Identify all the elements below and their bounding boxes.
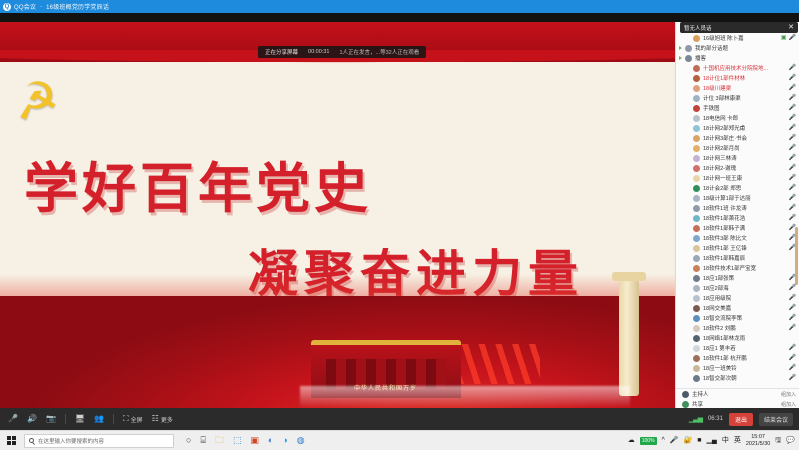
participant-name: 18软件技术1部严宝宽: [703, 264, 793, 272]
participant-status-icons: 🎤: [789, 365, 796, 371]
share-status-label: 正在分享屏幕: [265, 48, 298, 56]
windows-logo-icon: [7, 436, 16, 445]
browser-icon[interactable]: ◐: [268, 436, 273, 445]
participant-status-icons: 🎤: [789, 75, 796, 81]
avatar: [693, 375, 700, 382]
fullscreen-button[interactable]: ⛶ 全屏: [123, 415, 143, 424]
participant-status-icons: 🎤: [789, 115, 796, 121]
control-divider-2: [113, 414, 114, 424]
control-bar-right-group: ▁▃▅ 06:31 退出 结束会议: [689, 413, 799, 426]
clock-date: 2021/5/30: [746, 441, 770, 447]
participant-status-icons: 🎤: [789, 305, 796, 311]
search-placeholder: 在这里输入你要搜索的内容: [38, 437, 104, 445]
avatar: [693, 175, 700, 182]
participant-name: 18软件1部韩子满: [703, 224, 786, 232]
participant-row[interactable]: 18软件技术1部严宝宽: [676, 263, 799, 273]
participant-name: 计位 3部林康渠: [703, 94, 786, 102]
participant-row[interactable]: 18智交部次朝🎤: [676, 373, 799, 383]
camera-button[interactable]: 📷: [46, 415, 56, 423]
participant-status-icons: 🎤: [789, 215, 796, 221]
close-icon[interactable]: ✕: [788, 24, 794, 31]
microphone-muted-icon[interactable]: 🎤: [789, 155, 796, 161]
avatar: [693, 115, 700, 122]
network-tray-icon[interactable]: ▁▄: [707, 437, 717, 444]
footer-group-name: 共享: [692, 400, 778, 408]
control-bar-left-group: 🎤 🔊 📷 🖥 👥 ⛶ 全屏 ☷ 更多: [0, 414, 173, 424]
avatar: [693, 365, 700, 372]
avatar: [693, 285, 700, 292]
microphone-muted-icon[interactable]: 🎤: [789, 375, 796, 381]
participant-row[interactable]: 18软件1部韩子满🎤: [676, 223, 799, 233]
participant-status-icons: 🎤: [789, 175, 796, 181]
fountain-decoration: [300, 386, 630, 408]
avatar: [693, 75, 700, 82]
slide-headline-primary: 学好百年党史: [24, 144, 372, 223]
participant-name: 18计网2部月尚: [703, 144, 786, 152]
participant-status-icons: 🎤: [789, 185, 796, 191]
avatar: [693, 255, 700, 262]
participants-panel: 暂无人员话 ✕ 16级旭班 陈卜嘉▣🎤我的部分话题播客十国机应用技术分院院地..…: [675, 22, 799, 408]
avatar: [693, 295, 700, 302]
participant-status-icons: 🎤: [789, 95, 796, 101]
participant-row[interactable]: 18应用级院🎤: [676, 293, 799, 303]
system-tray: ☁ 100% ^ 🎤 🔐 ■ ▁▄ 中 英 15:07 2021/5/30 🖫 …: [628, 434, 799, 448]
participant-row[interactable]: 18智交流院李策🎤: [676, 313, 799, 323]
camera-on-icon[interactable]: ▣: [781, 35, 787, 41]
panel-header-tooltip: 暂无人员话 ✕: [680, 22, 798, 33]
participant-row[interactable]: 18应一班美铃🎤: [676, 363, 799, 373]
avatar: [693, 145, 700, 152]
participant-name: 18计网三林涛: [703, 154, 786, 162]
taskbar-clock[interactable]: 15:07 2021/5/30: [746, 434, 770, 448]
speaker-button[interactable]: 🔊: [27, 415, 37, 423]
speaker-icon: 🔊: [27, 415, 37, 423]
share-screen-button[interactable]: 🖥: [75, 415, 85, 423]
leave-meeting-button[interactable]: 退出: [729, 413, 753, 426]
participant-status-icons: 🎤: [789, 285, 796, 291]
microphone-muted-icon[interactable]: 🎤: [789, 325, 796, 331]
participant-row[interactable]: 十国机应用技术分院院地...🎤: [676, 63, 799, 73]
microphone-muted-icon[interactable]: 🎤: [789, 175, 796, 181]
participant-row[interactable]: 18计网2部月尚🎤: [676, 143, 799, 153]
taskbar-search-input[interactable]: 在这里输入你要搜索的内容: [24, 434, 174, 448]
avatar: [693, 95, 700, 102]
avatar: [693, 245, 700, 252]
onedrive-icon[interactable]: ☁: [628, 437, 635, 444]
microphone-muted-icon[interactable]: 🎤: [789, 65, 796, 71]
avatar: [693, 225, 700, 232]
participant-row[interactable]: 我的部分话题: [676, 43, 799, 53]
edge-icon[interactable]: ◍: [297, 436, 305, 445]
participant-row[interactable]: 18应1部张策🎤: [676, 273, 799, 283]
participant-name: 18软件1部萧花浩: [703, 214, 786, 222]
avatar: [693, 35, 700, 42]
store-icon[interactable]: ⬚: [233, 436, 242, 445]
participant-name: 18计网2-谢瑰: [703, 164, 786, 172]
participant-name: 18智交部次朝: [703, 374, 786, 382]
participant-row[interactable]: 18应2部海🎤: [676, 283, 799, 293]
microphone-muted-icon[interactable]: 🎤: [789, 165, 796, 171]
microphone-muted-icon[interactable]: 🎤: [789, 135, 796, 141]
window-app-name: QQ会议: [14, 2, 36, 11]
expand-triangle-icon[interactable]: [679, 46, 682, 50]
microphone-muted-icon[interactable]: 🎤: [789, 95, 796, 101]
window-document-title: 16级班概党历学党辰话: [46, 2, 109, 11]
avatar: [685, 45, 692, 52]
more-grid-icon: ☷: [152, 415, 159, 423]
clock-time: 15:07: [751, 434, 765, 440]
participant-status-icons: 🎤: [789, 205, 796, 211]
participant-row[interactable]: 18计网3部庄·书会🎤: [676, 133, 799, 143]
participant-name: 18级川建渠: [703, 84, 786, 92]
panel-header-title: 暂无人员话: [684, 24, 788, 32]
microphone-muted-icon[interactable]: 🎤: [789, 125, 796, 131]
avatar: [682, 401, 689, 408]
participant-row[interactable]: 18级计算1部于达丽🎤: [676, 193, 799, 203]
fullscreen-icon: ⛶: [123, 415, 129, 423]
participant-row[interactable]: 18级川建渠🎤: [676, 83, 799, 93]
participant-name: 18应用级院: [703, 294, 786, 302]
more-label: 更多: [161, 415, 173, 424]
participant-name: 18软件3部 陈比文: [703, 234, 786, 242]
microphone-muted-icon[interactable]: 🎤: [789, 355, 796, 361]
participant-status-icons: 🎤: [789, 295, 796, 301]
participant-name: 18计位1部件材林: [703, 74, 786, 82]
members-button[interactable]: 👥: [94, 415, 104, 423]
microphone-muted-icon[interactable]: 🎤: [789, 115, 796, 121]
avatar: [693, 105, 700, 112]
participant-row[interactable]: 18计网三林涛🎤: [676, 153, 799, 163]
participant-row[interactable]: 18软件1部 杭开鹏🎤: [676, 353, 799, 363]
microphone-muted-icon[interactable]: 🎤: [789, 205, 796, 211]
camera-off-icon: 📷: [46, 415, 56, 423]
microphone-muted-icon[interactable]: 🎤: [789, 75, 796, 81]
participant-row[interactable]: 18软件3部 陈比文🎤: [676, 233, 799, 243]
action-center-icon[interactable]: 🖫: [775, 437, 781, 444]
participant-status-icons: 🎤: [789, 195, 796, 201]
footer-group-count: 组加入: [781, 401, 796, 408]
participants-scrollbar[interactable]: [795, 227, 798, 285]
microphone-button[interactable]: 🎤: [8, 415, 18, 423]
huabiao-pillar-graphic: [619, 280, 639, 396]
participant-row[interactable]: 18计会2部 郑思🎤: [676, 183, 799, 193]
control-divider-1: [65, 414, 66, 424]
qq-logo-icon: Q: [3, 3, 11, 11]
participant-name: 播客: [695, 54, 793, 62]
microphone-muted-icon[interactable]: 🎤: [789, 195, 796, 201]
powerpoint-icon[interactable]: ▣: [250, 436, 259, 445]
avatar: [693, 275, 700, 282]
avatar: [693, 315, 700, 322]
participant-name: 18软件1部 王亿锋: [703, 244, 786, 252]
participant-name: 18计网一班王康: [703, 174, 786, 182]
share-screen-icon: 🖥: [75, 415, 85, 423]
microphone-muted-icon[interactable]: 🎤: [789, 145, 796, 151]
participant-row[interactable]: 18计网一班王康🎤: [676, 173, 799, 183]
participant-name: 18网络1部林龙雨: [703, 334, 793, 342]
avatar: [693, 135, 700, 142]
participant-name: 18计网2部郑光甫: [703, 124, 786, 132]
file-explorer-icon[interactable]: 🗀: [215, 436, 224, 445]
footer-group-count: 组加入: [781, 391, 796, 398]
participant-row[interactable]: 18软件1部 王亿锋🎤: [676, 243, 799, 253]
avatar: [693, 305, 700, 312]
participant-status-icons: 🎤: [789, 145, 796, 151]
participant-status-icons: 🎤: [789, 105, 796, 111]
participant-row[interactable]: 手铁图🎤: [676, 103, 799, 113]
avatar: [693, 65, 700, 72]
battery-tray-icon[interactable]: ■: [697, 437, 701, 444]
participant-status-icons: 🎤: [789, 325, 796, 331]
participant-name: 18计会2部 郑思: [703, 184, 786, 192]
participant-row[interactable]: 18计网2-谢瑰🎤: [676, 163, 799, 173]
participant-name: 18软件1部 杭开鹏: [703, 354, 786, 362]
microphone-muted-icon: 🎤: [8, 415, 18, 423]
participant-name: 18智交流院李策: [703, 314, 786, 322]
participant-name: 18级计算1部于达丽: [703, 194, 786, 202]
participant-row[interactable]: 18软件2 刘鹏🎤: [676, 323, 799, 333]
participant-name: 18软件1部韩嘉辰: [703, 254, 793, 262]
task-view-icon[interactable]: ⌸: [200, 436, 205, 445]
participant-name: 手铁图: [703, 104, 786, 112]
window-top-band: [0, 13, 799, 22]
microphone-muted-icon[interactable]: 🎤: [789, 315, 796, 321]
participant-name: 十国机应用技术分院院地...: [703, 64, 786, 72]
slide-scene-illustration: 中华人民共和国万岁: [0, 296, 675, 408]
microphone-muted-icon[interactable]: 🎤: [789, 105, 796, 111]
participant-name: 18网交美嘉: [703, 304, 786, 312]
participant-status-icons: 🎤: [789, 355, 796, 361]
participant-name: 18应一班美铃: [703, 364, 786, 372]
participant-name: 16级旭班 陈卜嘉: [703, 34, 778, 42]
avatar: [693, 215, 700, 222]
participant-status-icons: 🎤: [789, 85, 796, 91]
participant-status-icons: 🎤: [789, 315, 796, 321]
participant-status-icons: ▣🎤: [781, 35, 796, 41]
participant-row[interactable]: 计位 3部林康渠🎤: [676, 93, 799, 103]
participant-name: 我的部分话题: [695, 44, 793, 52]
participant-row[interactable]: 18计网2部郑光甫🎤: [676, 123, 799, 133]
expand-triangle-icon[interactable]: [679, 56, 682, 60]
window-titlebar: Q QQ会议 - 16级班概党历学党辰话: [0, 0, 799, 13]
avatar: [693, 155, 700, 162]
show-desktop-icon[interactable]: 💬: [786, 437, 795, 444]
more-button[interactable]: ☷ 更多: [152, 415, 173, 424]
participant-row[interactable]: 18软件1部韩嘉辰: [676, 253, 799, 263]
meeting-control-bar: 🎤 🔊 📷 🖥 👥 ⛶ 全屏 ☷ 更多: [0, 408, 799, 430]
participants-list[interactable]: 16级旭班 陈卜嘉▣🎤我的部分话题播客十国机应用技术分院院地...🎤18计位1部…: [676, 33, 799, 388]
microphone-muted-icon[interactable]: 🎤: [789, 85, 796, 91]
participant-status-icons: 🎤: [789, 135, 796, 141]
avatar: [693, 325, 700, 332]
participant-name: 18计网3部庄·书会: [703, 134, 786, 142]
screen: Q QQ会议 - 16级班概党历学党辰话 ☭ 学好百年党史 凝聚奋进力量 汇报人…: [0, 0, 799, 450]
avatar: [693, 165, 700, 172]
windows-taskbar: 在这里输入你要搜索的内容 ○⌸🗀⬚▣◐◑◍ ☁ 100% ^ 🎤 🔐 ■ ▁▄ …: [0, 430, 799, 450]
party-emblem-icon: ☭: [10, 63, 90, 134]
end-meeting-button[interactable]: 结束会议: [759, 413, 793, 426]
search-icon: [29, 438, 34, 443]
avatar: [693, 205, 700, 212]
participants-footer-row[interactable]: 主持人组加入: [676, 389, 799, 399]
participant-row[interactable]: 18软件1部萧花浩🎤: [676, 213, 799, 223]
taskbar-icon-group: ○⌸🗀⬚▣◐◑◍: [186, 436, 305, 445]
network-signal-icon: ▁▃▅: [689, 415, 702, 423]
participant-row[interactable]: 18网交美嘉🎤: [676, 303, 799, 313]
microphone-muted-icon[interactable]: 🎤: [789, 185, 796, 191]
participant-status-icons: 🎤: [789, 125, 796, 131]
microphone-muted-icon[interactable]: 🎤: [789, 285, 796, 291]
participant-row[interactable]: 18应1 第丰若🎤: [676, 343, 799, 353]
participant-row[interactable]: 16级旭班 陈卜嘉▣🎤: [676, 33, 799, 43]
participants-footer-row[interactable]: 共享组加入: [676, 399, 799, 408]
participant-status-icons: 🎤: [789, 345, 796, 351]
avatar: [693, 265, 700, 272]
avatar: [685, 55, 692, 62]
avatar: [693, 345, 700, 352]
microphone-muted-icon[interactable]: 🎤: [789, 305, 796, 311]
avatar: [682, 391, 689, 398]
avatar: [693, 335, 700, 342]
participants-footer: 主持人组加入共享组加入: [676, 388, 799, 408]
participant-status-icons: 🎤: [789, 65, 796, 71]
participant-status-icons: 🎤: [789, 375, 796, 381]
avatar: [693, 85, 700, 92]
microphone-tray-icon[interactable]: 🎤: [670, 437, 679, 444]
footer-group-name: 主持人: [692, 390, 778, 398]
participant-row[interactable]: 播客: [676, 53, 799, 63]
participant-name: 18电信网 卡郎: [703, 114, 786, 122]
microphone-muted-icon[interactable]: 🎤: [789, 215, 796, 221]
participant-row[interactable]: 18软件1班 许龙涛🎤: [676, 203, 799, 213]
avatar: [693, 235, 700, 242]
participant-row[interactable]: 18网络1部林龙雨: [676, 333, 799, 343]
tray-expand-icon[interactable]: ^: [662, 437, 665, 444]
screen-share-status-pill: 正在分享屏幕 00:00:31 1人正在发言，...等32人正在观看: [258, 46, 426, 58]
network-latency: 06:31: [708, 416, 723, 422]
ime-chinese-icon[interactable]: 中: [722, 437, 729, 444]
microphone-muted-icon[interactable]: 🎤: [789, 295, 796, 301]
avatar: [693, 355, 700, 362]
avatar: [693, 195, 700, 202]
participant-status-icons: 🎤: [789, 165, 796, 171]
participant-name: 18应1部张策: [703, 274, 786, 282]
share-viewers-status: 1人正在发言，...等32人正在观看: [339, 48, 419, 56]
avatar: [693, 185, 700, 192]
start-button[interactable]: [0, 431, 22, 450]
participant-row[interactable]: 18电信网 卡郎🎤: [676, 113, 799, 123]
participant-name: 18应1 第丰若: [703, 344, 786, 352]
share-elapsed-time: 00:00:31: [308, 49, 329, 55]
qq-icon[interactable]: ◑: [282, 436, 287, 445]
members-icon: 👥: [94, 415, 104, 423]
titlebar-separator: -: [40, 4, 42, 10]
shared-screen-stage[interactable]: ☭ 学好百年党史 凝聚奋进力量 汇报人： 陈卜嘉 中华人民共和国万岁 正在分享屏…: [0, 22, 675, 408]
cortana-icon[interactable]: ○: [186, 436, 191, 445]
participant-name: 18应2部海: [703, 284, 786, 292]
security-tray-icon[interactable]: 🔐: [684, 437, 693, 444]
microphone-muted-icon[interactable]: 🎤: [789, 345, 796, 351]
battery-badge[interactable]: 100%: [640, 437, 657, 445]
fullscreen-label: 全屏: [131, 415, 143, 424]
microphone-muted-icon[interactable]: 🎤: [789, 365, 796, 371]
avatar: [693, 125, 700, 132]
participant-name: 18软件1班 许龙涛: [703, 204, 786, 212]
participant-status-icons: 🎤: [789, 155, 796, 161]
participant-name: 18软件2 刘鹏: [703, 324, 786, 332]
ime-mode-icon[interactable]: 英: [734, 437, 741, 444]
participant-row[interactable]: 18计位1部件材林🎤: [676, 73, 799, 83]
microphone-muted-icon[interactable]: 🎤: [789, 35, 796, 41]
